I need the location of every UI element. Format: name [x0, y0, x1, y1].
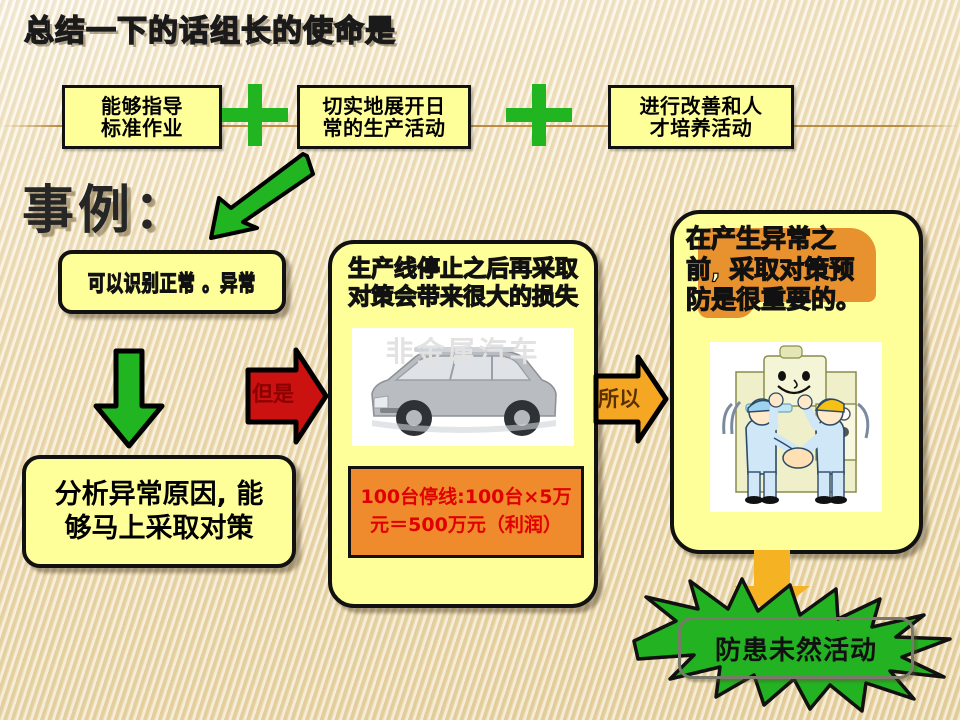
cost-calculation-box: 100台停线:100台×5万 元＝500万元（利润）	[348, 466, 584, 558]
down-green-arrow-icon	[86, 348, 172, 450]
analyze-box-text: 分析异常原因, 能 够马上采取对策	[55, 478, 264, 546]
cost-text: 100台停线:100台×5万 元＝500万元（利润）	[360, 484, 571, 539]
workers-handshake-illustration	[710, 342, 882, 512]
prevention-card: 在产生异常之 前, 采取对策预 防是很重要的。	[670, 210, 923, 554]
photo-watermark: 非金属汽车	[352, 330, 574, 370]
therefore-arrow-label: 所以	[598, 383, 640, 413]
recognize-box-text: 可以识别正常 。异常	[86, 254, 258, 310]
mission-box-1: 能够指导 标准作业	[62, 85, 222, 149]
car-photo: 非金属汽车	[352, 328, 574, 446]
slide-canvas: 总结一下的话组长的使命是 能够指导 标准作业 切实地展开日 常的生产活动 进行改…	[0, 0, 960, 720]
example-label: 事例：	[22, 168, 190, 243]
mission-box-2: 切实地展开日 常的生产活动	[297, 85, 471, 149]
plus-icon-1	[222, 84, 288, 146]
diagonal-green-arrow-icon	[195, 152, 315, 252]
mission-box-3: 进行改善和人 才培养活动	[608, 85, 794, 149]
center-card-heading: 生产线停止之后再采取 对策会带来很大的损失	[340, 256, 586, 311]
machine-and-workers-icon	[710, 342, 882, 512]
analyze-cause-box: 分析异常原因, 能 够马上采取对策	[22, 455, 296, 568]
center-loss-card: 生产线停止之后再采取 对策会带来很大的损失 非金属汽车	[328, 240, 598, 608]
prevention-activity-burst: 防患未然活动	[624, 575, 960, 715]
page-title: 总结一下的话组长的使命是	[24, 6, 396, 50]
burst-label: 防患未然活动	[678, 617, 914, 679]
but-arrow-label: 但是	[252, 378, 294, 408]
recognize-normal-abnormal-box: 可以识别正常 。异常	[58, 250, 286, 314]
plus-icon-2	[506, 84, 572, 146]
prevention-card-heading: 在产生异常之 前, 采取对策预 防是很重要的。	[686, 224, 908, 316]
